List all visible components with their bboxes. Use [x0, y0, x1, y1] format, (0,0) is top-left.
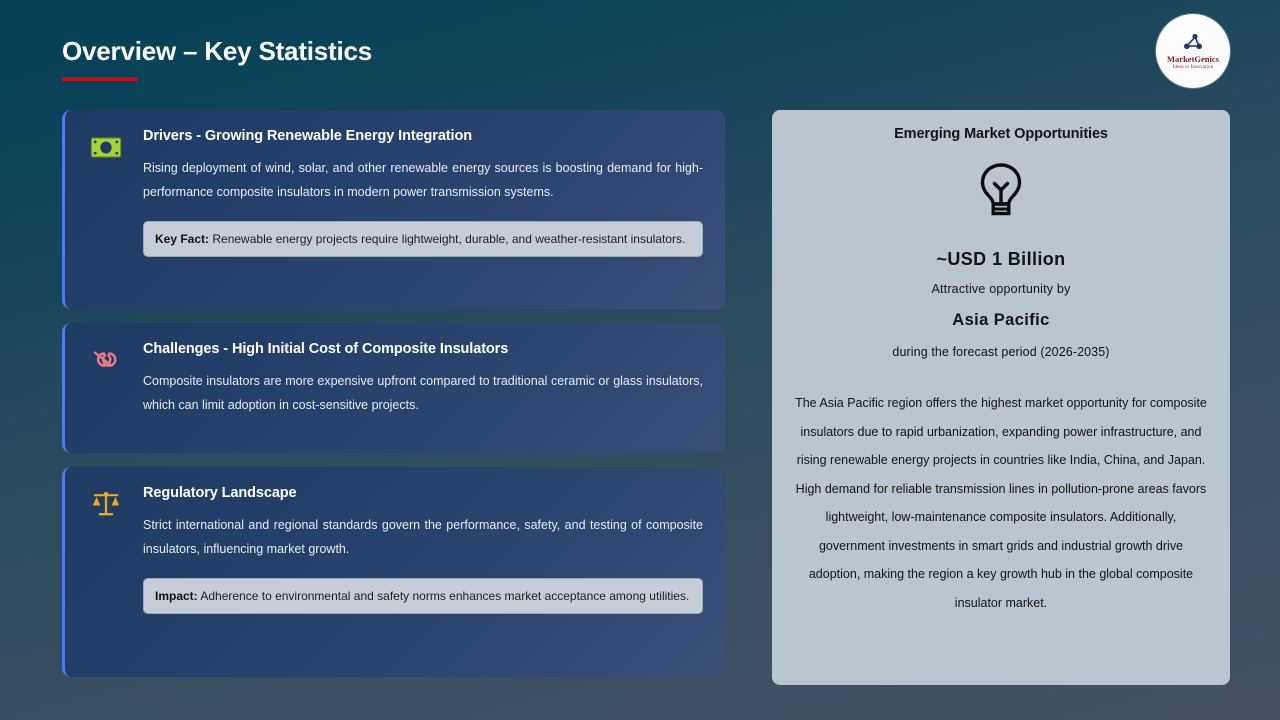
logo-name: MarketGenics	[1167, 55, 1219, 64]
card-body: Composite insulators are more expensive …	[143, 369, 703, 418]
opportunity-value: ~USD 1 Billion	[790, 249, 1212, 270]
lightbulb-icon	[975, 162, 1027, 218]
insight-cards-column: Drivers - Growing Renewable Energy Integ…	[62, 110, 725, 691]
card-body: Rising deployment of wind, solar, and ot…	[143, 156, 703, 205]
card-title: Drivers - Growing Renewable Energy Integ…	[143, 128, 703, 144]
header: Overview – Key Statistics	[62, 36, 372, 81]
brand-logo: MarketGenics Ideas to Innovation	[1156, 14, 1230, 88]
card-body: Strict international and regional standa…	[143, 513, 703, 562]
page-title: Overview – Key Statistics	[62, 36, 372, 67]
insight-card-drivers[interactable]: Drivers - Growing Renewable Energy Integ…	[62, 110, 725, 309]
card-title: Regulatory Landscape	[143, 485, 703, 501]
opportunity-region: Asia Pacific	[790, 311, 1212, 330]
callout-label: Key Fact:	[155, 232, 209, 246]
title-accent-underline	[62, 77, 137, 81]
balance-scale-icon	[87, 487, 125, 521]
network-node-logo-icon	[1180, 32, 1206, 54]
logo-tagline: Ideas to Innovation	[1173, 65, 1214, 70]
insight-card-regulatory[interactable]: Regulatory Landscape Strict internationa…	[62, 467, 725, 677]
insight-card-challenges[interactable]: Challenges - High Initial Cost of Compos…	[62, 323, 725, 453]
impact-callout: Impact: Adherence to environmental and s…	[143, 578, 703, 615]
callout-label: Impact:	[155, 589, 198, 603]
forecast-period-caption: during the forecast period (2026-2035)	[790, 345, 1212, 359]
emerging-market-opportunities-panel: Emerging Market Opportunities ~USD 1 Bil…	[772, 110, 1230, 685]
callout-text: Renewable energy projects require lightw…	[209, 232, 685, 246]
card-title: Challenges - High Initial Cost of Compos…	[143, 341, 703, 357]
callout-text: Adherence to environmental and safety no…	[198, 589, 690, 603]
panel-title: Emerging Market Opportunities	[790, 126, 1212, 142]
money-banknote-icon	[87, 130, 125, 164]
opportunity-value-caption: Attractive opportunity by	[790, 282, 1212, 296]
opportunity-description: The Asia Pacific region offers the highe…	[790, 389, 1212, 617]
broken-link-icon	[87, 343, 125, 377]
key-fact-callout: Key Fact: Renewable energy projects requ…	[143, 221, 703, 258]
